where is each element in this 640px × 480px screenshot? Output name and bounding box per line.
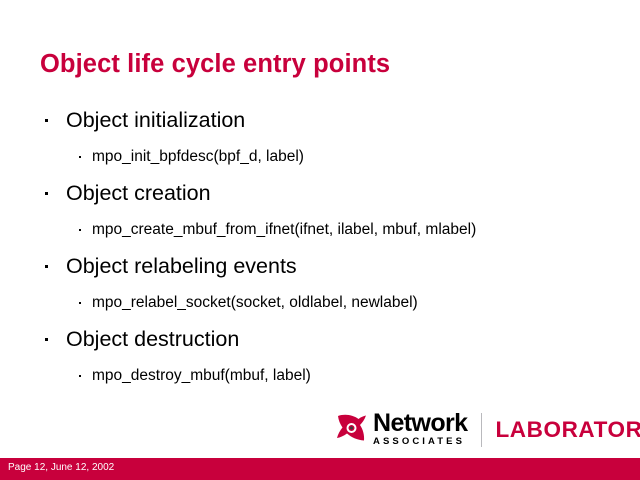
bullet-item-level1-label: Object creation — [66, 181, 211, 205]
bullet-item-level2: mpo_init_bpfdesc(bpf_d, label) — [0, 139, 640, 175]
bullet-item-level2: mpo_create_mbuf_from_ifnet(ifnet, ilabel… — [0, 212, 640, 248]
network-associates-shield-icon — [336, 413, 367, 443]
bullet-item-level1: Object initialization — [0, 102, 640, 139]
bullet-item-level1: Object destruction — [0, 321, 640, 358]
page-title: Object life cycle entry points — [40, 50, 390, 78]
network-associates-laboratories-logo: Network ASSOCIATES LABORATORIES — [336, 409, 626, 451]
bullet-item-level2-label: mpo_create_mbuf_from_ifnet(ifnet, ilabel… — [92, 221, 476, 238]
bullet-item-level2-label: mpo_init_bpfdesc(bpf_d, label) — [92, 148, 304, 165]
bullet-dot-icon — [45, 338, 48, 341]
bullet-item-level2: mpo_destroy_mbuf(mbuf, label) — [0, 358, 640, 394]
logo-divider — [481, 413, 482, 447]
division-name-laboratories: LABORATORIES — [495, 418, 640, 442]
bullet-item-level1: Object relabeling events — [0, 248, 640, 285]
bullet-dot-icon — [45, 192, 48, 195]
bullet-item-level1-label: Object destruction — [66, 327, 239, 351]
brand-name-network: Network — [373, 411, 467, 435]
sub-bullet-dot-icon — [79, 156, 81, 158]
bullet-item-level2: mpo_relabel_socket(socket, oldlabel, new… — [0, 285, 640, 321]
network-associates-wordmark: Network ASSOCIATES — [373, 411, 467, 448]
bullet-item-level1-label: Object initialization — [66, 108, 245, 132]
bullet-item-level1: Object creation — [0, 175, 640, 212]
bullet-item-level2-label: mpo_destroy_mbuf(mbuf, label) — [92, 367, 311, 384]
bullet-dot-icon — [45, 119, 48, 122]
sub-bullet-dot-icon — [79, 229, 81, 231]
presentation-slide: Object life cycle entry points Object in… — [0, 0, 640, 480]
bullet-list: Object initialization mpo_init_bpfdesc(b… — [0, 102, 640, 394]
sub-bullet-dot-icon — [79, 302, 81, 304]
footer-band: Page 12, June 12, 2002 — [0, 458, 640, 480]
footer-page-info: Page 12, June 12, 2002 — [8, 461, 114, 475]
brand-name-associates: ASSOCIATES — [373, 436, 467, 448]
bullet-item-level2-label: mpo_relabel_socket(socket, oldlabel, new… — [92, 294, 418, 311]
bullet-dot-icon — [45, 265, 48, 268]
sub-bullet-dot-icon — [79, 375, 81, 377]
bullet-item-level1-label: Object relabeling events — [66, 254, 297, 278]
